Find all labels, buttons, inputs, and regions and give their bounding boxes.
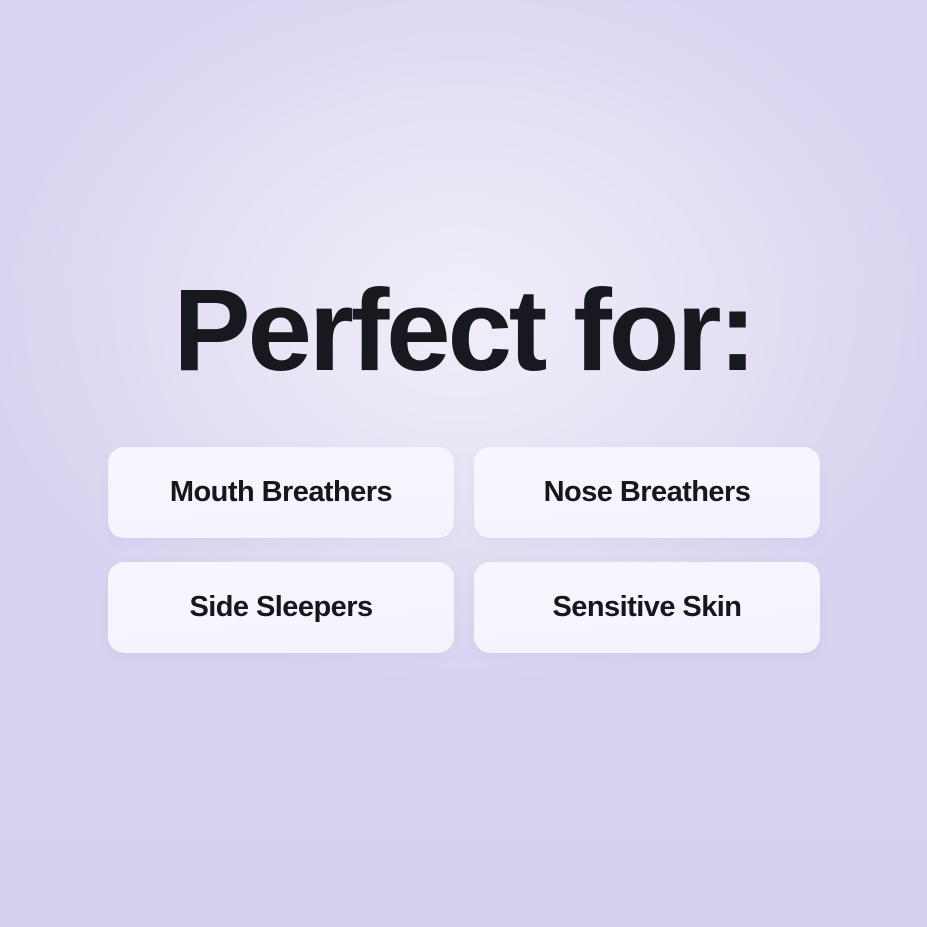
benefit-card-label: Mouth Breathers (170, 478, 392, 507)
benefit-card-mouth-breathers[interactable]: Mouth Breathers (108, 447, 454, 538)
title-block: Perfect for: (0, 272, 927, 388)
benefit-card-nose-breathers[interactable]: Nose Breathers (474, 447, 820, 538)
page-title: Perfect for: (0, 272, 927, 388)
benefit-card-label: Sensitive Skin (553, 593, 742, 622)
promo-poster: Perfect for: Mouth Breathers Nose Breath… (0, 0, 927, 927)
benefit-card-grid: Mouth Breathers Nose Breathers Side Slee… (108, 447, 820, 653)
benefit-card-side-sleepers[interactable]: Side Sleepers (108, 562, 454, 653)
benefit-card-label: Nose Breathers (544, 478, 751, 507)
benefit-card-sensitive-skin[interactable]: Sensitive Skin (474, 562, 820, 653)
benefit-card-label: Side Sleepers (189, 593, 372, 622)
